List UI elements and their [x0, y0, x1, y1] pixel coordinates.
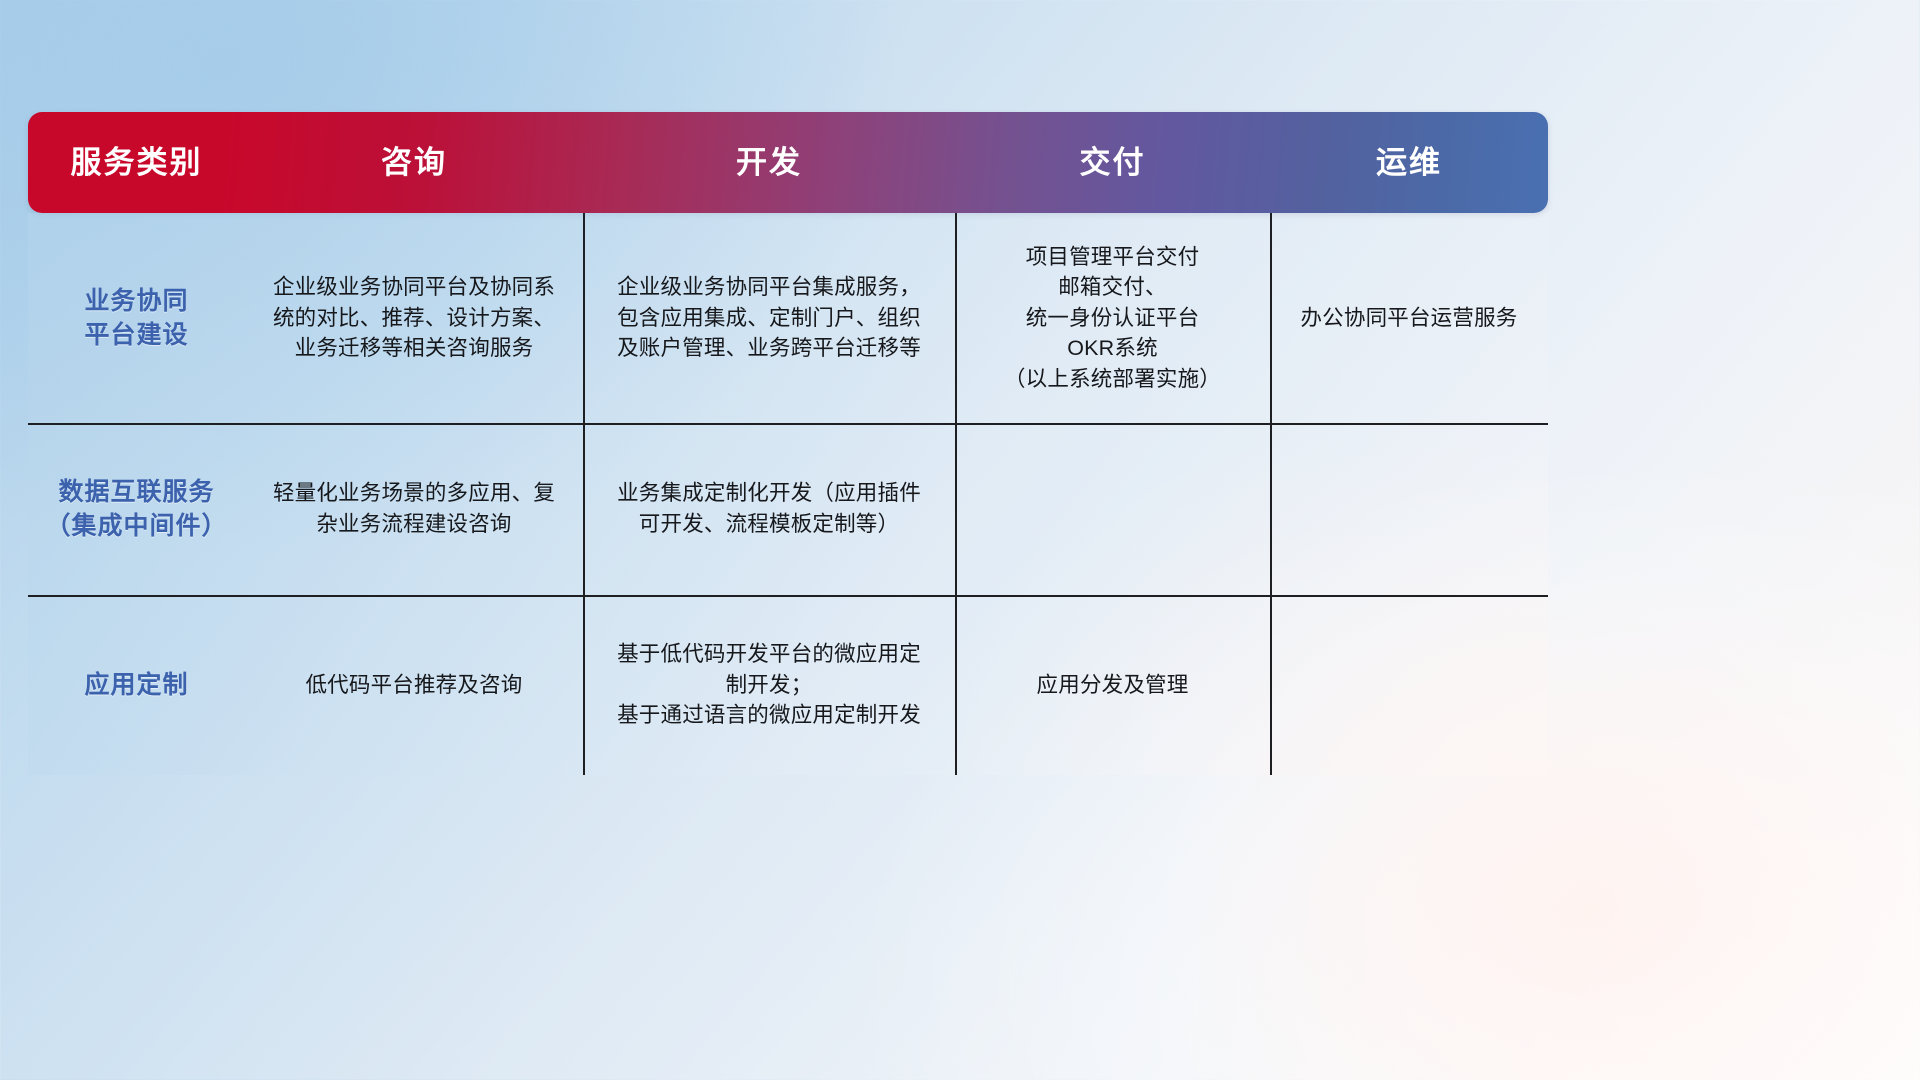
cell-value: 基于低代码开发平台的微应用定 制开发； 基于通过语言的微应用定制开发 — [617, 639, 921, 731]
column-header-category: 服务类别 — [28, 112, 245, 213]
cell-value: 应用分发及管理 — [1037, 670, 1189, 701]
cell-operations — [1270, 423, 1548, 595]
table-header-row: 服务类别 咨询 开发 交付 运维 — [28, 112, 1548, 213]
cell-consulting: 低代码平台推荐及咨询 — [245, 595, 583, 775]
column-header-delivery: 交付 — [955, 112, 1270, 213]
service-matrix-table: 服务类别 咨询 开发 交付 运维 业务协同 平台建设 企业级业务协同平台及协同 — [28, 112, 1548, 775]
cell-value: 企业级业务协同平台及协同系 统的对比、推荐、设计方案、 业务迁移等相关咨询服务 — [273, 272, 555, 364]
cell-development: 企业级业务协同平台集成服务， 包含应用集成、定制门户、组织 及账户管理、业务跨平… — [583, 213, 955, 423]
cell-consulting: 轻量化业务场景的多应用、复 杂业务流程建设咨询 — [245, 423, 583, 595]
category-label: 业务协同 平台建设 — [84, 284, 188, 353]
slide-canvas: 服务类别 咨询 开发 交付 运维 业务协同 平台建设 企业级业务协同平台及协同 — [0, 0, 1920, 1080]
cell-value: 低代码平台推荐及咨询 — [305, 670, 522, 701]
cell-operations: 办公协同平台运营服务 — [1270, 213, 1548, 423]
cell-delivery: 项目管理平台交付 邮箱交付、 统一身份认证平台 OKR系统 （以上系统部署实施） — [955, 213, 1270, 423]
category-label: 数据互联服务 （集成中间件） — [45, 475, 227, 544]
cell-value: 办公协同平台运营服务 — [1300, 303, 1517, 334]
cell-value: 项目管理平台交付 邮箱交付、 统一身份认证平台 OKR系统 （以上系统部署实施） — [1004, 242, 1221, 395]
cell-delivery: 应用分发及管理 — [955, 595, 1270, 775]
cell-development: 业务集成定制化开发（应用插件 可开发、流程模板定制等） — [583, 423, 955, 595]
category-label: 应用定制 — [84, 668, 188, 703]
cell-delivery — [955, 423, 1270, 595]
column-header-consulting: 咨询 — [245, 112, 583, 213]
cell-value: 业务集成定制化开发（应用插件 可开发、流程模板定制等） — [617, 478, 921, 539]
cell-category: 业务协同 平台建设 — [28, 213, 245, 423]
table-row: 业务协同 平台建设 企业级业务协同平台及协同系 统的对比、推荐、设计方案、 业务… — [28, 213, 1548, 423]
cell-operations — [1270, 595, 1548, 775]
cell-consulting: 企业级业务协同平台及协同系 统的对比、推荐、设计方案、 业务迁移等相关咨询服务 — [245, 213, 583, 423]
table-row: 应用定制 低代码平台推荐及咨询 基于低代码开发平台的微应用定 制开发； 基于通过… — [28, 595, 1548, 775]
column-header-development: 开发 — [583, 112, 955, 213]
cell-value: 企业级业务协同平台集成服务， 包含应用集成、定制门户、组织 及账户管理、业务跨平… — [617, 272, 921, 364]
cell-development: 基于低代码开发平台的微应用定 制开发； 基于通过语言的微应用定制开发 — [583, 595, 955, 775]
table-body: 业务协同 平台建设 企业级业务协同平台及协同系 统的对比、推荐、设计方案、 业务… — [28, 213, 1548, 775]
cell-category: 数据互联服务 （集成中间件） — [28, 423, 245, 595]
table-row: 数据互联服务 （集成中间件） 轻量化业务场景的多应用、复 杂业务流程建设咨询 业… — [28, 423, 1548, 595]
cell-category: 应用定制 — [28, 595, 245, 775]
cell-value: 轻量化业务场景的多应用、复 杂业务流程建设咨询 — [273, 478, 555, 539]
column-header-operations: 运维 — [1270, 112, 1548, 213]
